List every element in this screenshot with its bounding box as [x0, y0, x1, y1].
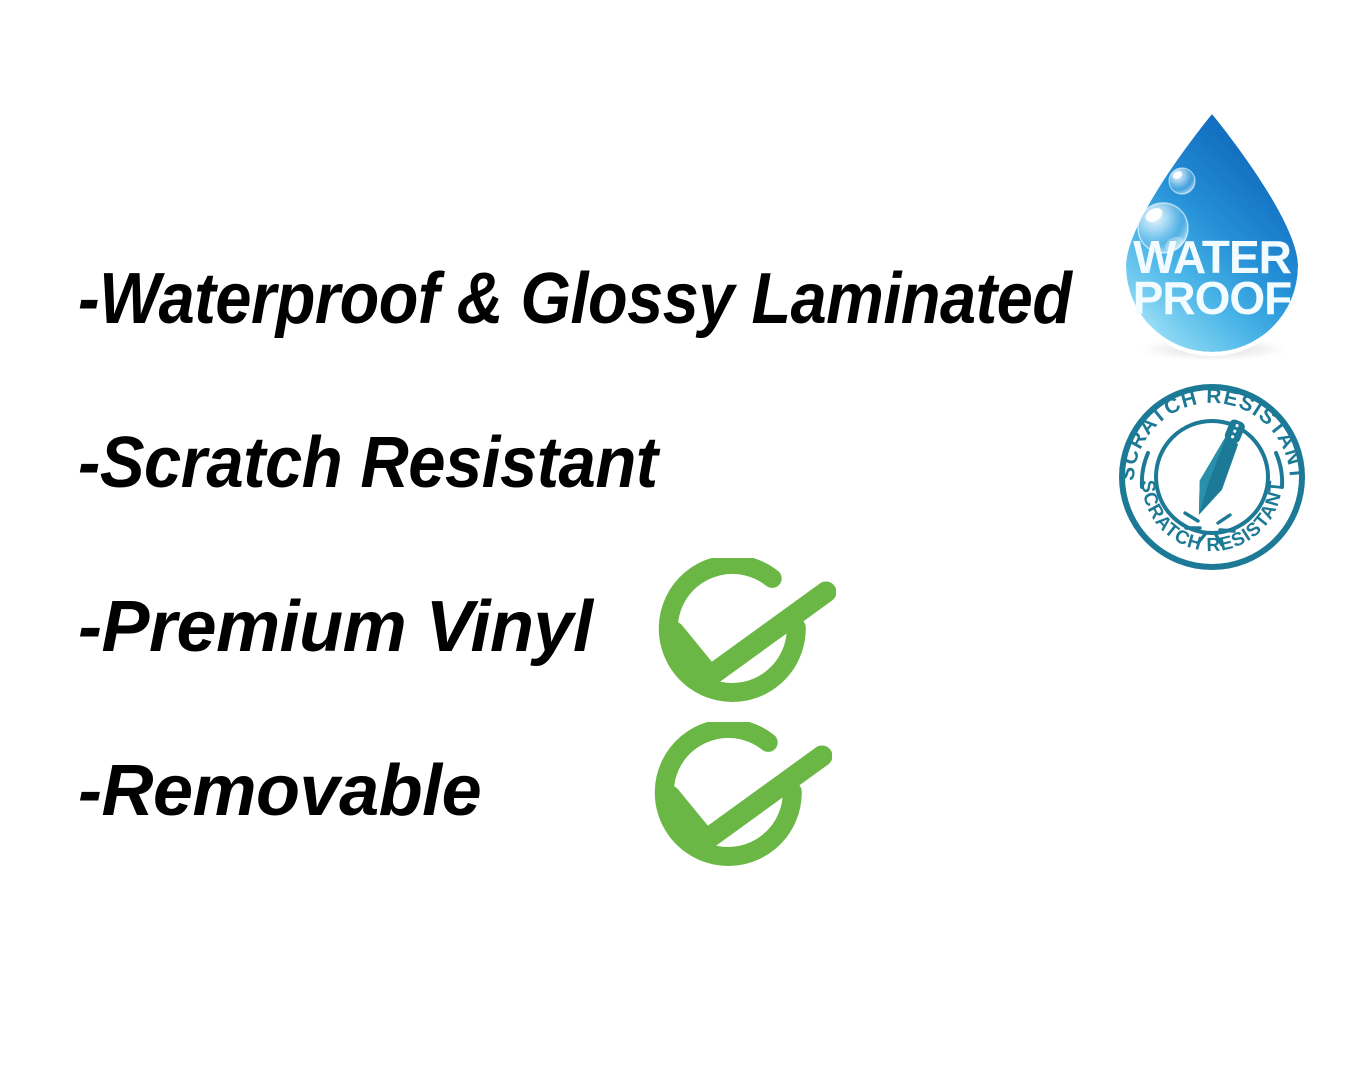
knife-icon [1188, 416, 1248, 520]
feature-item-waterproof: -Waterproof & Glossy Laminated [78, 258, 1071, 340]
bullet-dash: - [78, 750, 101, 832]
feature-item-scratch-resistant: -Scratch Resistant [78, 422, 658, 504]
product-feature-graphic: -Waterproof & Glossy Laminated -Scratch … [0, 0, 1359, 1080]
bullet-dash: - [78, 258, 99, 340]
feature-label: Scratch Resistant [100, 422, 658, 504]
feature-list: -Waterproof & Glossy Laminated -Scratch … [0, 0, 1100, 1080]
bullet-dash: - [78, 586, 101, 668]
feature-item-removable: -Removable [78, 750, 481, 832]
waterproof-line-2: PROOF [1133, 272, 1292, 324]
green-check-2 [636, 722, 832, 882]
bullet-dash: - [78, 422, 100, 504]
feature-label: Removable [101, 750, 481, 832]
feature-item-premium-vinyl: -Premium Vinyl [78, 586, 592, 668]
feature-label: Premium Vinyl [101, 586, 592, 668]
waterproof-badge: WATER PROOF [1108, 106, 1316, 364]
bubble-small [1169, 168, 1195, 194]
feature-label: Waterproof & Glossy Laminated [99, 258, 1071, 340]
green-check-1 [640, 558, 836, 718]
scratch-resistant-badge: SCRATCH RESISTANT SCRATCH RESISTANT [1112, 383, 1312, 571]
